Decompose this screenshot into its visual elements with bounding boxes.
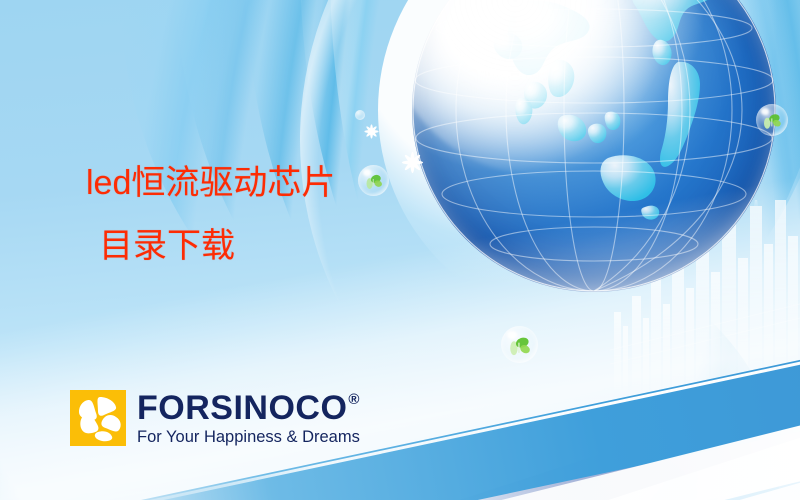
four-petal-pinwheel-icon	[70, 390, 126, 446]
logo-wordmark: FORSINOCO ®	[137, 391, 360, 425]
logo-name-text: FORSINOCO	[137, 391, 347, 425]
bottom-ribbon-violet	[413, 299, 800, 500]
headline-line-2: 目录下载	[99, 229, 335, 263]
bubble-with-green-sprout-icon	[501, 326, 538, 363]
logo-tagline: For Your Happiness & Dreams	[137, 429, 360, 446]
registered-trademark-icon: ®	[348, 392, 360, 407]
small-bubble-icon	[355, 110, 365, 120]
bubble-with-green-sprout-icon	[358, 165, 389, 196]
promo-banner: led恒流驱动芯片 目录下载 FORSINOCO ® For Your Happ…	[0, 0, 800, 500]
headline-line-1: led恒流驱动芯片	[86, 166, 335, 200]
bottom-ribbon-violet-2	[515, 380, 800, 500]
earth-globe-icon	[412, 0, 776, 292]
headline: led恒流驱动芯片 目录下载	[86, 166, 335, 263]
bottom-ribbon-white-2	[422, 371, 800, 500]
company-logo: FORSINOCO ® For Your Happiness & Dreams	[70, 390, 360, 446]
